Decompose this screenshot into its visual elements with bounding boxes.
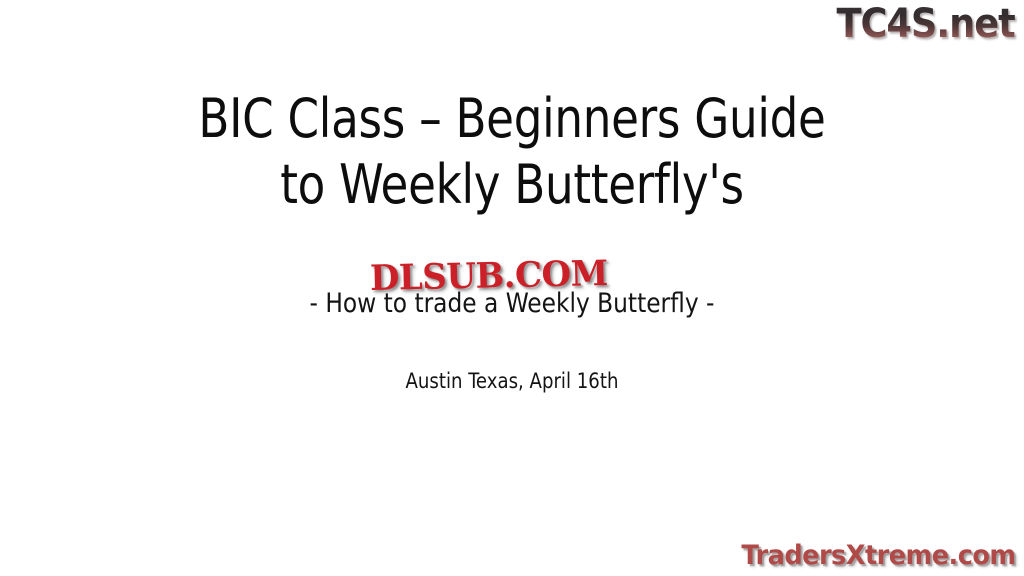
presentation-slide: TC4S.net BIC Class – Beginners Guide to …: [0, 0, 1024, 576]
dlsub-overlay-watermark: DLSUB.COM: [370, 255, 609, 298]
location-and-date: Austin Texas, April 16th: [20, 368, 1003, 394]
tc4s-site-logo: TC4S.net: [837, 2, 1015, 46]
page-title: BIC Class – Beginners Guide to Weekly Bu…: [0, 86, 1024, 218]
tradersxtreme-watermark: TradersXtreme.com: [742, 540, 1016, 572]
title-line-1: BIC Class – Beginners Guide: [36, 86, 988, 152]
title-line-2: to Weekly Butterfly's: [36, 152, 988, 218]
